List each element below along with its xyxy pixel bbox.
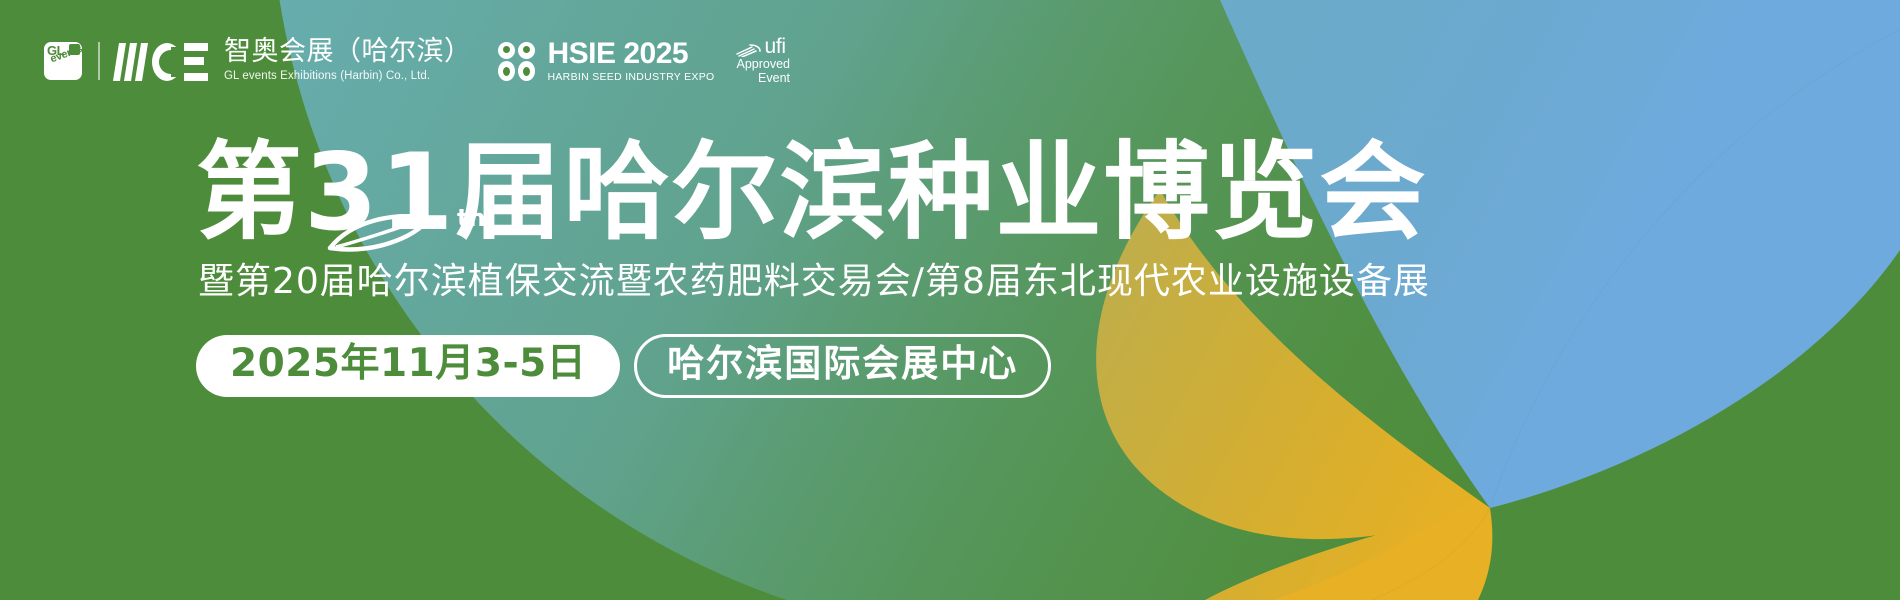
ufi-word: ufi: [764, 37, 785, 57]
hsie-logo-block: HSIE 2025 HARBIN SEED INDUSTRY EXPO: [498, 39, 715, 84]
hsie-title: HSIE 2025: [548, 39, 715, 69]
expo-banner: GL events 智奥会展（哈尔滨） GL events Exhibition…: [0, 0, 1900, 600]
title-suffix: 届哈尔滨种业博览会: [456, 140, 1428, 246]
ufi-approved-event-badge: ufi Approved Event: [736, 37, 790, 86]
leaf-flourish-icon: [326, 214, 438, 252]
organizer-name-cn: 智奥会展（哈尔滨）: [224, 38, 472, 66]
ufi-line-event: Event: [736, 71, 790, 85]
page-subtitle: 暨第20届哈尔滨植保交流暨农药肥料交易会/第8届东北现代农业设施设备展: [198, 262, 1430, 302]
event-date-badge: 2025年11月3-5日: [196, 335, 620, 397]
ufi-line-approved: Approved: [736, 57, 790, 71]
gl-events-logo-icon: GL events: [44, 42, 82, 80]
event-venue-badge: 哈尔滨国际会展中心: [634, 334, 1051, 398]
title-prefix: 第: [196, 140, 304, 246]
aice-wordmark-icon: [116, 41, 208, 81]
header-logo-strip: GL events 智奥会展（哈尔滨） GL events Exhibition…: [44, 34, 790, 88]
hsie-subtitle: HARBIN SEED INDUSTRY EXPO: [548, 71, 715, 84]
organizer-name-en: GL events Exhibitions (Harbin) Co., Ltd.: [224, 70, 472, 84]
page-title: 第 31 th 届哈尔滨种业博览会: [196, 140, 1428, 246]
title-ordinal-suffix: th: [457, 206, 486, 230]
ufi-swoosh-icon: [736, 43, 762, 57]
hsie-seed-logo-icon: [498, 41, 540, 81]
event-info-pills: 2025年11月3-5日 哈尔滨国际会展中心: [196, 334, 1051, 398]
logo-divider: [98, 42, 100, 80]
organizer-name-block: 智奥会展（哈尔滨） GL events Exhibitions (Harbin)…: [224, 38, 472, 83]
title-edition-number-wrap: 31 th: [304, 140, 456, 246]
